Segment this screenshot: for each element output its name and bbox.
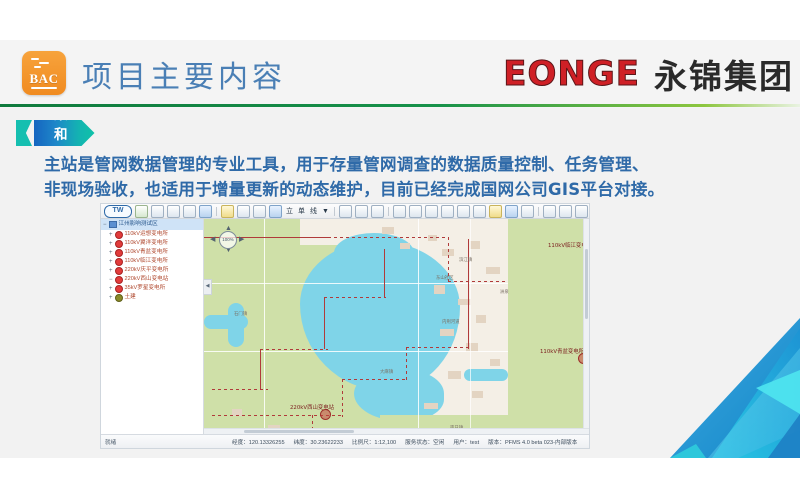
map-power-line-dashed xyxy=(324,297,386,298)
toolbar-separator-3 xyxy=(388,207,389,216)
expand-icon[interactable]: + xyxy=(109,241,113,247)
save-icon[interactable] xyxy=(355,205,368,218)
tool-label-1[interactable]: 单 xyxy=(297,206,306,216)
map-place-label: 内荆河道 xyxy=(442,319,460,325)
toolbar-separator xyxy=(216,207,217,216)
map-canvas-area[interactable]: 110kV临江变电所 110kV青盆变电所 220kV西山变电站 滨江镇 东山社… xyxy=(204,219,589,434)
map-place-label: 滨江镇 xyxy=(459,257,472,263)
zoom-out-icon[interactable] xyxy=(441,205,454,218)
zoom-in-icon[interactable] xyxy=(425,205,438,218)
company-brand: EONGE 永锦集团 xyxy=(503,54,794,94)
map-station-label: 110kV青盆变电所 xyxy=(540,347,584,355)
visibility-eye-icon[interactable] xyxy=(575,205,588,218)
map-block xyxy=(382,227,394,234)
highlight-icon[interactable] xyxy=(489,205,502,218)
tree-item[interactable]: − 220kV西山变电站 xyxy=(101,275,203,284)
cursor-select-icon[interactable] xyxy=(393,205,406,218)
expand-icon[interactable]: + xyxy=(109,286,113,292)
app-toolbar[interactable]: TW 立 单 线 ▼ xyxy=(101,204,589,219)
expand-icon[interactable]: + xyxy=(109,295,113,301)
map-block xyxy=(472,391,483,398)
red-dot-icon xyxy=(115,240,123,248)
body-paragraph: 主站是管网数据管理的专业工具，用于存量管网调查的数据质量控制、任务管理、 非现场… xyxy=(44,152,774,202)
node-icon[interactable] xyxy=(559,205,572,218)
bac-logo-icon: BAC xyxy=(22,51,66,95)
map-block xyxy=(448,371,461,379)
tree-item-label: 110kV翼洋变电所 xyxy=(125,239,168,248)
ribbon-body: 电缆数据采集和维护管理主站 xyxy=(34,120,95,146)
map-navigation-pad[interactable]: ▲ ▼ ◀ ▶ 100% xyxy=(210,225,244,255)
olive-dot-icon xyxy=(115,294,123,302)
print-icon[interactable] xyxy=(505,205,518,218)
tree-root-node[interactable]: − 江州影响测试区 xyxy=(101,219,203,230)
map-block xyxy=(476,315,486,323)
status-ready-text: 就绪 xyxy=(105,438,223,446)
map-power-line xyxy=(324,297,325,349)
chevron-down-icon[interactable]: ▼ xyxy=(321,208,330,215)
map-river-west-2 xyxy=(228,303,244,347)
header-divider-rule xyxy=(0,104,800,107)
red-dot-icon xyxy=(115,285,123,293)
logo-bars xyxy=(31,58,57,72)
pan-left-icon[interactable]: ◀ xyxy=(210,236,215,243)
map-power-line-dashed xyxy=(212,389,268,390)
decorative-polygon-icon xyxy=(650,318,800,458)
slide-header: BAC 项目主要内容 EONGE 永锦集团 xyxy=(0,40,800,108)
map-block xyxy=(490,359,500,366)
expand-icon[interactable]: + xyxy=(109,259,113,265)
map-block xyxy=(440,329,454,336)
status-latitude: 纬度：30.23622233 xyxy=(294,438,343,446)
new-doc-icon[interactable] xyxy=(135,205,148,218)
status-longitude: 经度：120.13326255 xyxy=(232,438,285,446)
folder-icon xyxy=(109,221,117,228)
map-road xyxy=(470,219,471,434)
tree-item[interactable]: + 110kV运想变电所 xyxy=(101,230,203,239)
expand-icon[interactable]: + xyxy=(109,250,113,256)
zoom-extent-icon[interactable] xyxy=(457,205,470,218)
body-line-2: 非现场验收，也适用于增量更新的动态维护，目前已经完成国网公司GIS平台对接。 xyxy=(44,177,774,202)
tree-item[interactable]: + 110kV青盆变电所 xyxy=(101,248,203,257)
map-block xyxy=(428,235,437,241)
scrollbar-thumb[interactable] xyxy=(585,249,588,319)
tree-item-label: 35kV罗星变电所 xyxy=(125,284,166,293)
expand-icon[interactable]: + xyxy=(109,232,113,238)
tree-item-label: 110kV青盆变电所 xyxy=(125,248,168,257)
map-road xyxy=(418,219,419,434)
map-power-line-dashed xyxy=(448,281,506,282)
tree-item[interactable]: + 110kV翼洋变电所 xyxy=(101,239,203,248)
map-power-line-dashed xyxy=(342,379,406,380)
map-vertical-scrollbar[interactable] xyxy=(583,219,589,429)
tree-item-label: 220kV西山变电站 xyxy=(125,275,169,284)
scrollbar-thumb[interactable] xyxy=(244,430,354,433)
toolbar-separator-4 xyxy=(538,207,539,216)
map-power-line-dashed xyxy=(406,347,468,348)
gis-application-screenshot: TW 立 单 线 ▼ xyxy=(100,203,590,449)
ribbon-tail-shape xyxy=(16,120,32,146)
map-block xyxy=(486,267,500,274)
bottom-white-band xyxy=(0,458,800,499)
tree-item[interactable]: + 土建 xyxy=(101,293,203,302)
red-dot-icon xyxy=(115,276,123,284)
map-place-label: 大麻镇 xyxy=(380,369,393,375)
status-user: 用户：test xyxy=(453,438,479,446)
brand-latin-text: EONGE xyxy=(503,54,640,94)
panel-collapse-handle[interactable]: ◀ xyxy=(204,279,212,295)
map-lake-south xyxy=(354,369,444,421)
tree-item[interactable]: + 220kV庆平变电所 xyxy=(101,266,203,275)
map-power-line xyxy=(468,239,469,349)
status-version: 版本：PFMS 4.0 beta 023-内部版本 xyxy=(488,438,577,446)
slide-root: BAC 项目主要内容 EONGE 永锦集团 电缆数据采集和维护管理主站 主站是管… xyxy=(0,0,800,499)
map-road xyxy=(204,351,508,352)
pan-hand-icon[interactable] xyxy=(409,205,422,218)
move-icon[interactable] xyxy=(543,205,556,218)
body-line-1: 主站是管网数据管理的专业工具，用于存量管网调查的数据质量控制、任务管理、 xyxy=(44,155,649,174)
status-service-state: 服务状态：空闲 xyxy=(405,438,444,446)
map-lake-north xyxy=(334,233,414,273)
close-icon[interactable] xyxy=(521,205,534,218)
red-dot-icon xyxy=(115,267,123,275)
tree-item-label: 110kV运想变电所 xyxy=(125,230,168,239)
map-place-label: 石门镇 xyxy=(234,311,247,317)
logo-letters: BAC xyxy=(22,71,66,87)
brand-chinese-text: 永锦集团 xyxy=(654,50,794,98)
corner-decoration xyxy=(650,318,800,458)
page-title: 项目主要内容 xyxy=(82,52,286,96)
map-road xyxy=(264,219,265,434)
map-block xyxy=(470,241,480,249)
map-block xyxy=(400,243,410,249)
map-power-line xyxy=(384,249,385,297)
layers-icon[interactable] xyxy=(199,205,212,218)
toolbar-separator-2 xyxy=(334,207,335,216)
tree-root-label: 江州影响测试区 xyxy=(119,220,158,229)
logo-underbar xyxy=(31,87,57,89)
measure-icon[interactable] xyxy=(253,205,266,218)
map-graphics: 110kV临江变电所 110kV青盆变电所 220kV西山变电站 滨江镇 东山社… xyxy=(204,219,589,434)
tool-label-2[interactable]: 线 xyxy=(309,206,318,216)
tree-item-label: 220kV庆平变电所 xyxy=(125,266,169,275)
search-icon[interactable] xyxy=(167,205,180,218)
tree-item-label: 土建 xyxy=(125,293,136,302)
map-power-line-dashed xyxy=(328,237,448,238)
refresh-icon[interactable] xyxy=(371,205,384,218)
expand-collapse-icon[interactable]: − xyxy=(103,222,107,228)
map-power-line xyxy=(260,349,261,389)
snap-icon[interactable] xyxy=(269,205,282,218)
red-dot-icon xyxy=(115,258,123,266)
map-place-label: 东山社区 xyxy=(436,275,454,281)
map-place-label: 洲泉 xyxy=(500,289,509,295)
map-power-line-dashed xyxy=(406,347,407,381)
tree-item-label: 110kV临江变电所 xyxy=(125,257,168,266)
list-icon[interactable] xyxy=(183,205,196,218)
tree-item[interactable]: + 35kV罗星变电所 xyxy=(101,284,203,293)
draw-pen-icon[interactable] xyxy=(237,205,250,218)
map-station-label: 220kV西山变电站 xyxy=(290,403,334,411)
red-dot-icon xyxy=(115,231,123,239)
red-dot-icon xyxy=(115,249,123,257)
app-status-bar: 就绪 经度：120.13326255 纬度：30.23622233 比例尺：1:… xyxy=(101,434,589,448)
pin-icon[interactable] xyxy=(151,205,164,218)
pan-right-icon[interactable]: ▶ xyxy=(239,236,244,243)
layer-tree-panel[interactable]: − 江州影响测试区 + 110kV运想变电所 + 110kV翼洋变电所 + 11… xyxy=(101,219,204,434)
edit-pen-icon[interactable] xyxy=(221,205,234,218)
tw-logo-icon[interactable]: TW xyxy=(104,205,132,218)
map-power-line-dashed xyxy=(260,349,328,350)
rectangle-select-icon[interactable] xyxy=(473,205,486,218)
tree-item[interactable]: + 110kV临江变电所 xyxy=(101,257,203,266)
map-road xyxy=(204,283,508,284)
tool-label-0[interactable]: 立 xyxy=(285,206,294,216)
expand-icon[interactable]: − xyxy=(109,277,113,283)
map-block xyxy=(434,285,445,294)
zoom-level-indicator[interactable]: 100% xyxy=(219,231,237,249)
status-scale: 比例尺：1:12,100 xyxy=(352,438,396,446)
map-block xyxy=(424,403,438,409)
undo-icon[interactable] xyxy=(339,205,352,218)
expand-icon[interactable]: + xyxy=(109,268,113,274)
top-white-band xyxy=(0,0,800,40)
map-power-line-dashed xyxy=(342,379,343,417)
